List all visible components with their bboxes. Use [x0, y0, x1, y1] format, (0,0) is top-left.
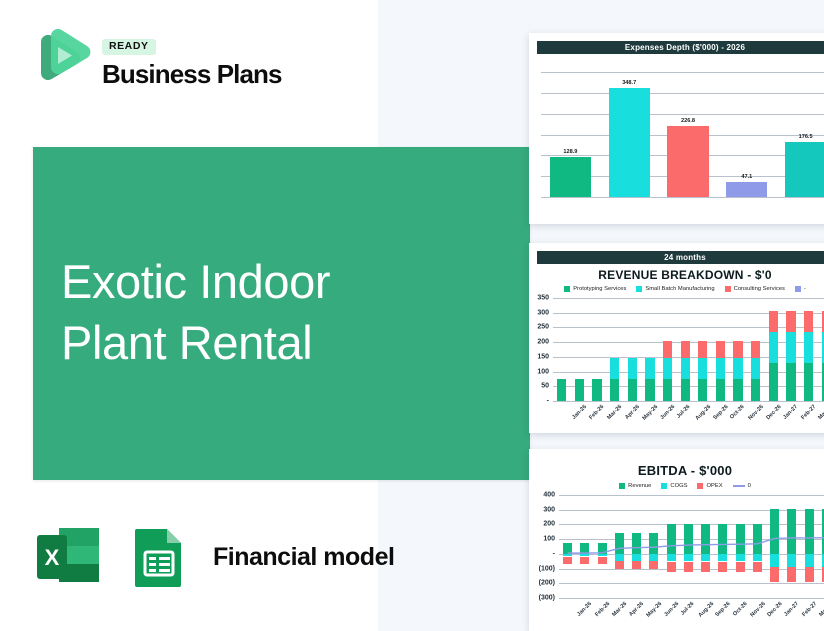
- x-axis-tick: Nov-26: [747, 404, 764, 421]
- legend-label: OPEX: [706, 483, 722, 489]
- microsoft-excel-icon: X: [33, 521, 105, 593]
- bar-segment: [610, 379, 619, 401]
- y-axis-tick: (300): [539, 595, 555, 602]
- bar-value-label: 47.1: [741, 174, 752, 180]
- legend-item-cogs: COGS: [661, 483, 687, 489]
- gridline: [541, 197, 824, 198]
- bar-segment: [804, 363, 813, 401]
- bar-segment: [770, 554, 779, 567]
- brand-text-block: READY Business Plans: [102, 26, 282, 88]
- y-axis-tick: (100): [539, 565, 555, 572]
- y-axis-tick: 150: [537, 353, 549, 360]
- gridline: [541, 72, 824, 73]
- legend-swatch: [697, 483, 703, 489]
- bar-segment: [563, 557, 572, 565]
- bar-segment: [804, 332, 813, 363]
- x-axis-tick: Sep-26: [715, 601, 732, 618]
- x-axis-tick: Jul-26: [676, 404, 692, 420]
- legend-swatch: [636, 286, 642, 292]
- bar-segment: [751, 358, 760, 379]
- legend-item-revenue: Revenue: [619, 483, 651, 489]
- bar-segment: [769, 311, 778, 332]
- play-triangle-logo-icon: [29, 26, 91, 88]
- bar-segment: [615, 533, 624, 554]
- x-axis-tick: Nov-26: [749, 601, 766, 618]
- svg-text:X: X: [45, 545, 60, 570]
- bar-segment: [787, 567, 796, 582]
- bar-segment: [684, 524, 693, 554]
- y-axis-tick: -: [553, 550, 555, 557]
- bar-segment: [598, 543, 607, 554]
- gridline: [559, 598, 824, 599]
- bar-segment: [649, 554, 658, 561]
- revenue-legend: Prototyping ServicesSmall Batch Manufact…: [529, 286, 824, 292]
- bar-segment: [667, 562, 676, 573]
- bar-segment: [592, 379, 601, 401]
- gridline: [541, 114, 824, 115]
- x-axis-tick: Aug-26: [698, 601, 716, 619]
- bar-segment: [667, 524, 676, 554]
- expenses-plot-area: 128.9348.7226.847.1176.5: [529, 60, 824, 205]
- bar-segment: [786, 311, 795, 332]
- legend-swatch: [795, 286, 801, 292]
- x-axis-tick: Feb-26: [594, 601, 611, 618]
- gridline: [559, 510, 824, 511]
- bar-segment: [615, 554, 624, 561]
- bar-segment: [770, 509, 779, 554]
- bar-segment: [701, 562, 710, 573]
- gridline: [553, 298, 824, 299]
- bar-segment: [681, 341, 690, 358]
- bar-segment: [557, 379, 566, 401]
- bar-segment: [663, 341, 672, 358]
- legend-label: Consulting Services: [734, 286, 785, 292]
- bar-segment: [575, 379, 584, 401]
- bar-segment: [769, 363, 778, 401]
- bar-segment: [698, 341, 707, 358]
- x-axis-tick: Jan-27: [784, 601, 801, 618]
- bar-segment: [736, 562, 745, 573]
- bar: [726, 182, 767, 197]
- x-axis-tick: Apr-26: [628, 601, 645, 618]
- legend-label: COGS: [670, 483, 687, 489]
- bar-segment: [786, 363, 795, 401]
- x-axis-tick: Dec-26: [767, 601, 784, 618]
- revenue-plot-area: 35030025020015010050-Jan-26Feb-26Mar-26A…: [529, 294, 824, 427]
- x-axis-tick: Feb-27: [800, 404, 817, 421]
- bar-segment: [684, 554, 693, 562]
- x-axis-tick: Feb-26: [589, 404, 606, 421]
- y-axis-tick: 50: [541, 383, 549, 390]
- bar-segment: [698, 379, 707, 401]
- bar-value-label: 176.5: [799, 134, 813, 140]
- bar-segment: [716, 358, 725, 379]
- bar-segment: [736, 524, 745, 554]
- x-axis-tick: Oct-26: [732, 601, 749, 618]
- bar: [609, 88, 650, 197]
- bar-segment: [753, 554, 762, 562]
- bar-segment: [701, 524, 710, 554]
- x-axis-tick: May-26: [642, 404, 660, 422]
- legend-item-small-batch-manufacturing: Small Batch Manufacturing: [636, 286, 714, 292]
- revenue-chart-header: 24 months: [537, 251, 824, 264]
- bar-value-label: 226.8: [681, 118, 695, 124]
- x-axis-tick: Apr-26: [624, 404, 641, 421]
- expenses-chart-header: Expenses Depth ($'000) - 2026: [537, 41, 824, 54]
- bar-segment: [667, 554, 676, 562]
- x-axis-tick: Mar-27: [818, 404, 824, 421]
- x-axis-tick: Jul-26: [680, 601, 696, 617]
- brand-name: Business Plans: [102, 61, 282, 88]
- bar-segment: [649, 533, 658, 554]
- bar-segment: [632, 533, 641, 554]
- bar-segment: [718, 554, 727, 562]
- bar-segment: [645, 358, 654, 379]
- legend-swatch: [661, 483, 667, 489]
- legend-label: 0: [748, 483, 751, 489]
- legend-item-opex: OPEX: [697, 483, 722, 489]
- bar-segment: [563, 543, 572, 554]
- revenue-bars: 35030025020015010050-Jan-26Feb-26Mar-26A…: [553, 298, 824, 401]
- y-axis-tick: -: [547, 398, 549, 405]
- footer-block: X Financial model: [33, 521, 394, 593]
- x-axis-tick: Jun-26: [659, 404, 676, 421]
- bar-segment: [598, 557, 607, 565]
- x-axis-tick: Sep-26: [712, 404, 729, 421]
- ebitda-legend: RevenueCOGSOPEX0: [529, 483, 824, 489]
- chart-card-expenses: Expenses Depth ($'000) - 2026 128.9348.7…: [529, 33, 824, 224]
- y-axis-tick: (200): [539, 580, 555, 587]
- gridline: [541, 93, 824, 94]
- legend-item--: -: [795, 286, 806, 292]
- legend-label: Prototyping Services: [573, 286, 626, 292]
- bar-segment: [736, 554, 745, 562]
- ebitda-plot-area: 400300200100-(100)(200)(300)Jan-26Feb-26…: [529, 491, 824, 626]
- legend-swatch: [564, 286, 570, 292]
- bar-segment: [632, 561, 641, 569]
- bar-segment: [684, 562, 693, 573]
- legend-swatch: [733, 485, 745, 487]
- bar: [550, 157, 591, 197]
- bar-segment: [716, 379, 725, 401]
- gridline: [553, 401, 824, 402]
- bar-segment: [769, 332, 778, 363]
- bar-segment: [701, 554, 710, 562]
- ready-badge: READY: [102, 39, 156, 55]
- legend-swatch: [619, 483, 625, 489]
- bar-segment: [615, 561, 624, 569]
- y-axis-tick: 100: [537, 368, 549, 375]
- legend-label: Small Batch Manufacturing: [645, 286, 714, 292]
- google-sheets-icon: [123, 521, 195, 593]
- gridline: [553, 313, 824, 314]
- bar-segment: [698, 358, 707, 379]
- footer-label: Financial model: [213, 543, 394, 572]
- page-title: Exotic Indoor Plant Rental: [61, 251, 330, 373]
- bar: [785, 142, 824, 197]
- y-axis-tick: 100: [543, 536, 555, 543]
- y-axis-tick: 300: [543, 506, 555, 513]
- slide-canvas: READY Business Plans Exotic Indoor Plant…: [0, 0, 824, 631]
- y-axis-tick: 250: [537, 324, 549, 331]
- bar-segment: [580, 543, 589, 554]
- x-axis-tick: Mar-26: [611, 601, 628, 618]
- expenses-bars: 128.9348.7226.847.1176.5: [541, 72, 824, 197]
- chart-card-revenue: 24 months REVENUE BREAKDOWN - $'0 Protot…: [529, 243, 824, 433]
- bar-segment: [751, 341, 760, 358]
- legend-item-consulting-services: Consulting Services: [725, 286, 785, 292]
- x-axis-tick: Feb-27: [801, 601, 818, 618]
- x-axis-tick: Jan-26: [571, 404, 588, 421]
- gridline: [553, 327, 824, 328]
- gridline: [559, 495, 824, 496]
- ebitda-bars: 400300200100-(100)(200)(300)Jan-26Feb-26…: [559, 495, 824, 598]
- bar-value-label: 128.9: [563, 149, 577, 155]
- bar-segment: [681, 379, 690, 401]
- chart-card-ebitda: EBITDA - $'000 RevenueCOGSOPEX0 40030020…: [529, 449, 824, 631]
- bar-segment: [718, 562, 727, 573]
- bar-segment: [770, 567, 779, 582]
- legend-label: Revenue: [628, 483, 651, 489]
- bar-segment: [580, 557, 589, 565]
- bar-segment: [628, 358, 637, 379]
- x-axis-tick: Mar-27: [818, 601, 824, 618]
- y-axis-tick: 200: [537, 339, 549, 346]
- bar-segment: [787, 554, 796, 567]
- y-axis-tick: 350: [537, 295, 549, 302]
- bar-segment: [805, 554, 814, 567]
- bar-segment: [718, 524, 727, 554]
- bar: [667, 126, 708, 197]
- bar-segment: [610, 358, 619, 379]
- bar-segment: [786, 332, 795, 363]
- bar-segment: [632, 554, 641, 561]
- bar-segment: [716, 341, 725, 358]
- bar-segment: [804, 311, 813, 332]
- x-axis-tick: Aug-26: [695, 404, 713, 422]
- hero-panel: Exotic Indoor Plant Rental: [33, 147, 530, 480]
- y-axis-tick: 200: [543, 521, 555, 528]
- bar-segment: [663, 379, 672, 401]
- bar-segment: [628, 379, 637, 401]
- x-axis-tick: Jan-27: [782, 404, 799, 421]
- legend-item-prototyping-services: Prototyping Services: [564, 286, 626, 292]
- bar-segment: [663, 358, 672, 379]
- bar-segment: [753, 562, 762, 573]
- y-axis-tick: 400: [543, 492, 555, 499]
- bar-segment: [751, 379, 760, 401]
- x-axis-tick: May-26: [646, 601, 664, 619]
- bar-value-label: 348.7: [622, 80, 636, 86]
- revenue-chart-title: REVENUE BREAKDOWN - $'0: [529, 268, 824, 282]
- x-axis-tick: Jun-26: [663, 601, 680, 618]
- bar-segment: [733, 341, 742, 358]
- x-axis-tick: Dec-26: [765, 404, 782, 421]
- x-axis-tick: Oct-26: [729, 404, 746, 421]
- x-axis-tick: Jan-26: [577, 601, 594, 618]
- gridline: [559, 583, 824, 584]
- bar-segment: [787, 509, 796, 554]
- bar-segment: [805, 509, 814, 554]
- bar-segment: [645, 379, 654, 401]
- bar-segment: [733, 379, 742, 401]
- brand-lockup: READY Business Plans: [29, 26, 282, 88]
- bar-segment: [681, 358, 690, 379]
- bar-segment: [649, 561, 658, 569]
- bar-segment: [733, 358, 742, 379]
- x-axis-tick: Mar-26: [606, 404, 623, 421]
- legend-item-0: 0: [733, 483, 751, 489]
- bar-segment: [805, 567, 814, 582]
- legend-label: -: [804, 286, 806, 292]
- legend-swatch: [725, 286, 731, 292]
- ebitda-chart-title: EBITDA - $'000: [529, 463, 824, 478]
- bar-segment: [753, 524, 762, 554]
- y-axis-tick: 300: [537, 309, 549, 316]
